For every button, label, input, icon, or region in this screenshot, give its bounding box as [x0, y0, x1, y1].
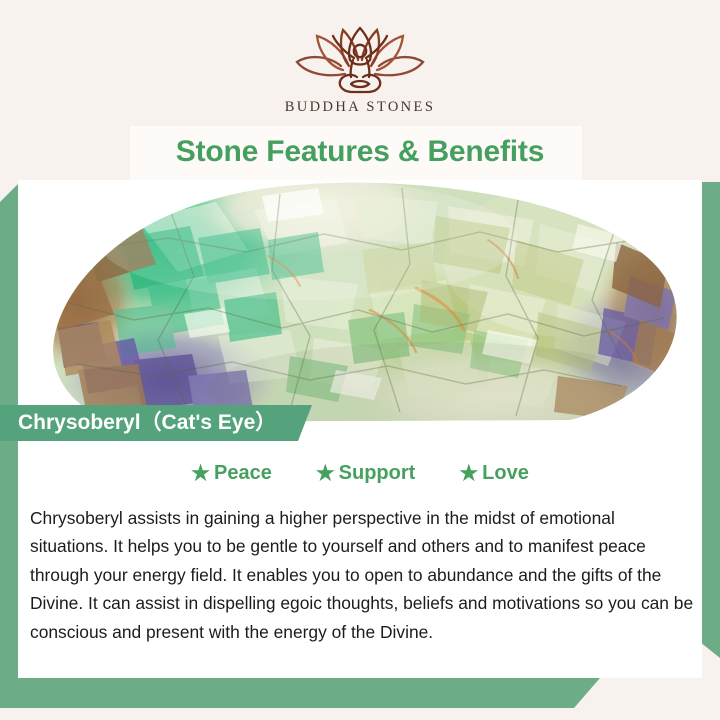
frame-bottom-bar — [0, 678, 600, 708]
brand-logo: BUDDHA STONES — [0, 22, 720, 116]
stone-name-text: Chrysoberyl（Cat's Eye） — [18, 406, 276, 440]
star-icon: ★ — [191, 463, 210, 484]
stone-image — [18, 180, 702, 425]
keyword-label: Love — [482, 462, 529, 485]
description-text: Chrysoberyl assists in gaining a higher … — [30, 504, 694, 646]
keyword-love: ★ Love — [459, 462, 529, 485]
keyword-label: Support — [339, 462, 416, 485]
keywords-row: ★ Peace ★ Support ★ Love — [18, 462, 702, 485]
star-icon: ★ — [459, 463, 478, 484]
stone-photo — [18, 180, 702, 425]
lotus-meditation-icon — [285, 22, 435, 96]
header: BUDDHA STONES Stone Features & Benefits — [0, 0, 720, 182]
keyword-support: ★ Support — [316, 462, 415, 485]
keyword-peace: ★ Peace — [191, 462, 272, 485]
page-title: Stone Features & Benefits — [0, 128, 720, 176]
infographic-card: BUDDHA STONES Stone Features & Benefits — [0, 0, 720, 720]
keyword-label: Peace — [214, 462, 272, 485]
star-icon: ★ — [316, 463, 335, 484]
brand-wordmark: BUDDHA STONES — [0, 99, 720, 116]
